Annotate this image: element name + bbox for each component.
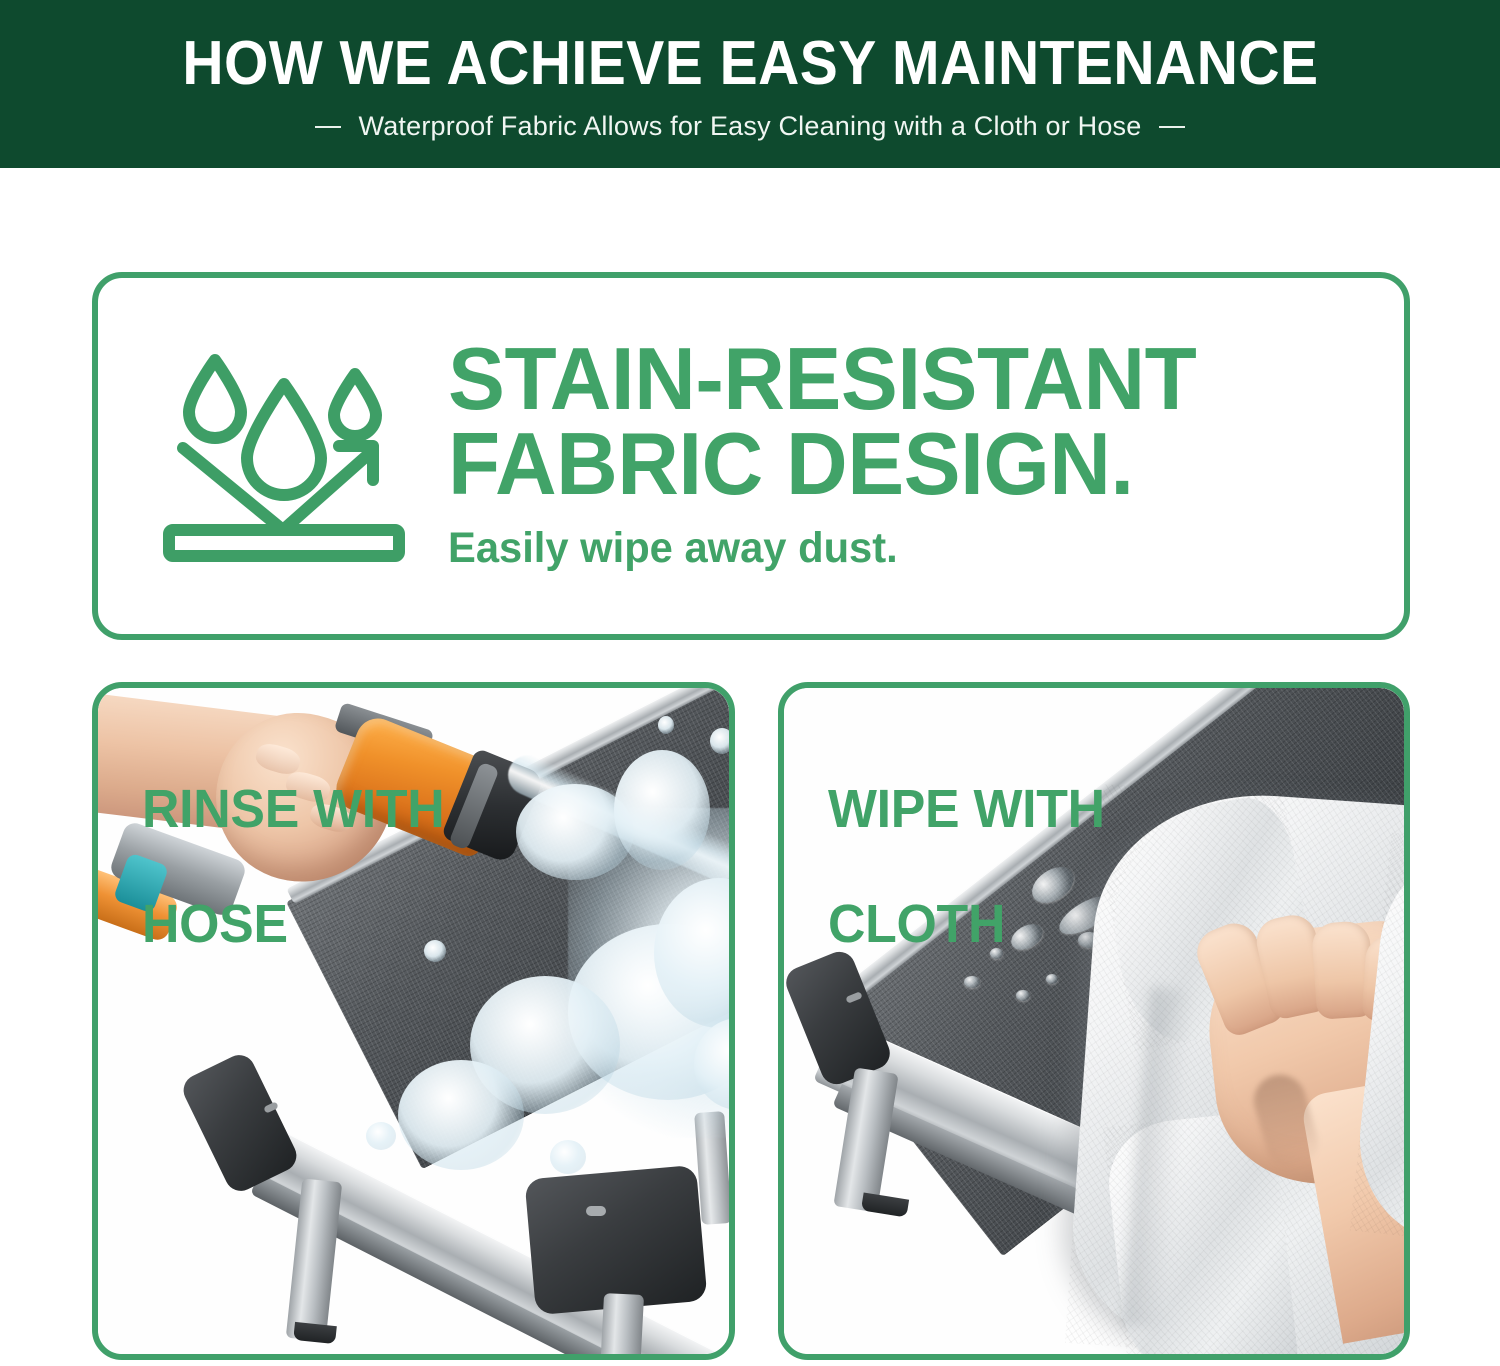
feature-title-line-2: FABRIC DESIGN. — [448, 421, 1375, 506]
water-droplet-a — [710, 728, 729, 754]
dash-right-icon — [1159, 126, 1185, 128]
cot-cap-right-screw-icon — [586, 1206, 606, 1216]
header-banner: HOW WE ACHIEVE EASY MAINTENANCE Waterpro… — [0, 0, 1500, 168]
water-repellent-droplets-icon — [150, 336, 418, 576]
water-bead-6 — [1016, 990, 1030, 1001]
hose-assembly — [104, 702, 574, 952]
water-bead-7 — [1046, 974, 1058, 984]
cot-leg-left-foot — [293, 1322, 337, 1344]
water-bead-8 — [990, 948, 1003, 959]
photo-card-rinse-with-hose: RINSE WITH HOSE — [92, 682, 735, 1360]
content-stage: STAIN-RESISTANT FABRIC DESIGN. Easily wi… — [0, 168, 1500, 1366]
water-splash-2 — [614, 750, 710, 870]
photo-card-wipe-with-cloth: WIPE WITH CLOTH — [778, 682, 1410, 1360]
dash-left-icon — [315, 126, 341, 128]
feature-subtitle: Easily wipe away dust. — [448, 525, 1375, 572]
water-droplet-d — [366, 1122, 396, 1150]
cot-leg-left-foot — [861, 1193, 909, 1218]
rinse-photo-illustration — [98, 688, 729, 1354]
page-title: HOW WE ACHIEVE EASY MAINTENANCE — [182, 32, 1318, 95]
feature-title-line-1: STAIN-RESISTANT — [448, 336, 1375, 421]
water-bead-5 — [964, 976, 980, 988]
water-droplet-e — [550, 1140, 586, 1174]
water-droplet-b — [658, 716, 674, 734]
water-droplet-c — [424, 940, 446, 962]
cot-leg-right — [600, 1293, 644, 1354]
header-subtitle-row: Waterproof Fabric Allows for Easy Cleani… — [315, 111, 1186, 142]
feature-card-stain-resistant: STAIN-RESISTANT FABRIC DESIGN. Easily wi… — [92, 272, 1410, 640]
wipe-photo-illustration — [784, 688, 1404, 1354]
water-splash-6 — [398, 1060, 524, 1170]
header-subtitle: Waterproof Fabric Allows for Easy Cleani… — [359, 111, 1142, 142]
feature-text-block: STAIN-RESISTANT FABRIC DESIGN. Easily wi… — [448, 336, 1404, 576]
